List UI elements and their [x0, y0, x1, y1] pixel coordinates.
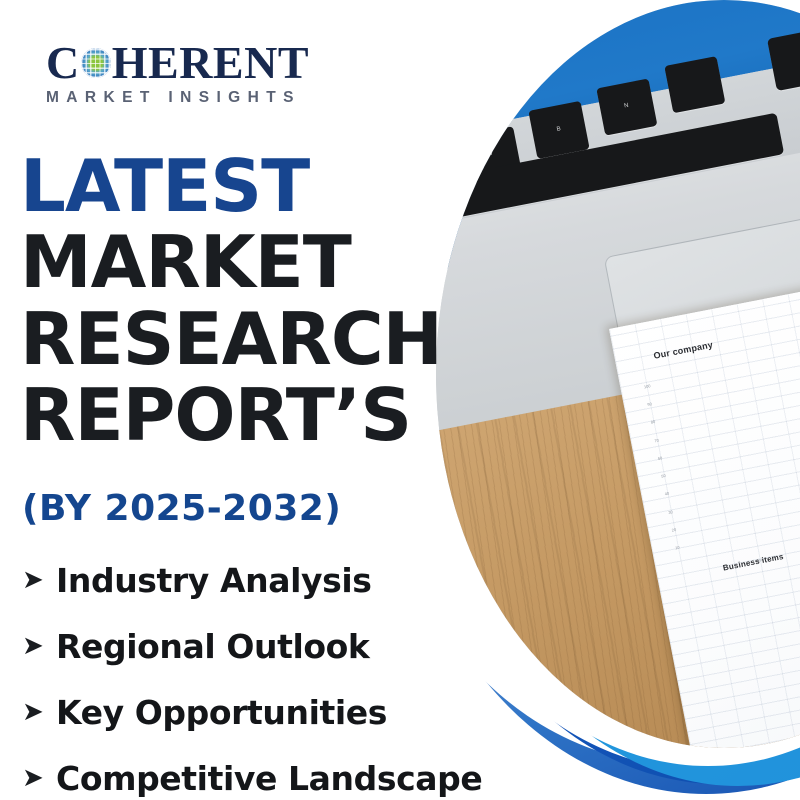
list-item-label: Regional Outlook	[56, 627, 369, 666]
headline-line-1: LATEST	[20, 152, 450, 220]
brand-logo[interactable]: C HERENT MARKET INSIGHTS	[46, 40, 346, 107]
line-series-green	[786, 592, 800, 748]
line-series-pink	[789, 606, 800, 748]
globe-icon	[81, 48, 111, 78]
headline-block: LATEST MARKET RESEARCH REPORT’S	[20, 152, 450, 450]
ytick: 30	[668, 509, 673, 515]
feature-list: ➤ Industry Analysis ➤ Regional Outlook ➤…	[22, 552, 542, 800]
forecast-period-label: (BY 2025-2032)	[22, 488, 341, 529]
headline-line-3: RESEARCH	[20, 305, 450, 373]
ytick: 80	[650, 419, 655, 425]
list-item: ➤ Regional Outlook	[22, 618, 542, 674]
ytick: 10	[675, 545, 680, 551]
list-item: ➤ Key Opportunities	[22, 684, 542, 740]
brand-name: C HERENT	[46, 40, 346, 86]
ytick: 20	[671, 527, 676, 533]
headline-line-4: REPORT’S	[20, 381, 450, 449]
list-item-label: Key Opportunities	[56, 693, 387, 732]
ytick: 60	[657, 455, 662, 461]
arrow-bullet-icon: ➤	[22, 567, 56, 593]
list-item: ➤ Industry Analysis	[22, 552, 542, 608]
list-item-label: Industry Analysis	[56, 561, 372, 600]
ytick: 90	[647, 402, 652, 408]
arrow-bullet-icon: ➤	[22, 765, 56, 791]
key-label: N	[624, 103, 630, 110]
ytick: 100	[643, 383, 651, 389]
arrow-bullet-icon: ➤	[22, 699, 56, 725]
brand-name-suffix: HERENT	[112, 40, 309, 86]
list-item-label: Competitive Landscape	[56, 759, 482, 798]
brand-name-prefix: C	[46, 40, 80, 86]
ytick: 40	[664, 491, 669, 497]
key-label: V	[488, 151, 493, 158]
brand-tagline: MARKET INSIGHTS	[46, 89, 346, 107]
key-label: B	[556, 126, 561, 133]
list-item: ➤ Competitive Landscape	[22, 750, 542, 800]
promo-poster: ⌘ command V B N ⌘ command	[0, 0, 800, 800]
headline-line-2: MARKET	[20, 228, 450, 296]
ytick: 50	[661, 473, 666, 479]
ytick: 70	[654, 437, 659, 443]
arrow-bullet-icon: ➤	[22, 633, 56, 659]
